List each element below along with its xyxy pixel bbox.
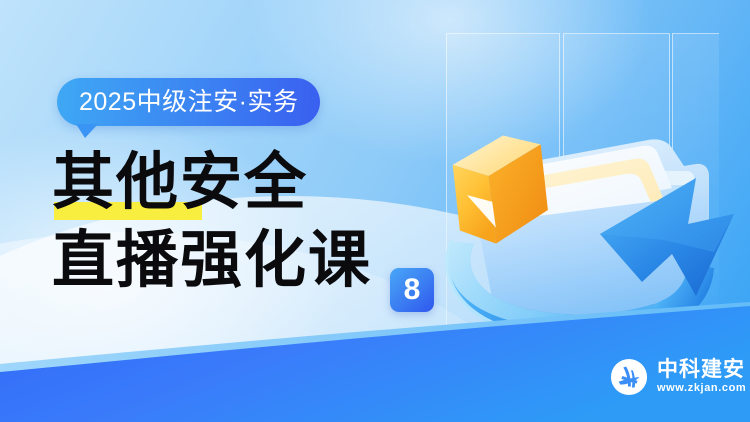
title-line-1: 其他安全 xyxy=(52,152,472,214)
title-line-1-label: 其他安全 xyxy=(52,149,308,217)
episode-number-label: 8 xyxy=(404,275,421,305)
course-subject-badge: 2025中级注安·实务 xyxy=(57,78,320,126)
title-line-2-label: 直播强化课 xyxy=(52,227,372,295)
brand-logo-text: 中科建安 www.zkjan.com xyxy=(657,359,746,396)
episode-number-badge: 8 xyxy=(390,268,434,312)
banner-content: 2025中级注安·实务 其他安全 直播强化课 8 xyxy=(0,0,750,422)
course-subject-label: 2025中级注安·实务 xyxy=(79,90,298,115)
brand-url-label: www.zkjan.com xyxy=(657,381,746,395)
brand-logo[interactable]: 中科建安 www.zkjan.com xyxy=(610,358,746,396)
badge-tail xyxy=(76,124,98,138)
course-promo-banner: 2025中级注安·实务 其他安全 直播强化课 8 xyxy=(0,0,750,422)
zkjan-circle-logo-icon xyxy=(610,358,648,396)
brand-name-label: 中科建安 xyxy=(657,359,746,382)
